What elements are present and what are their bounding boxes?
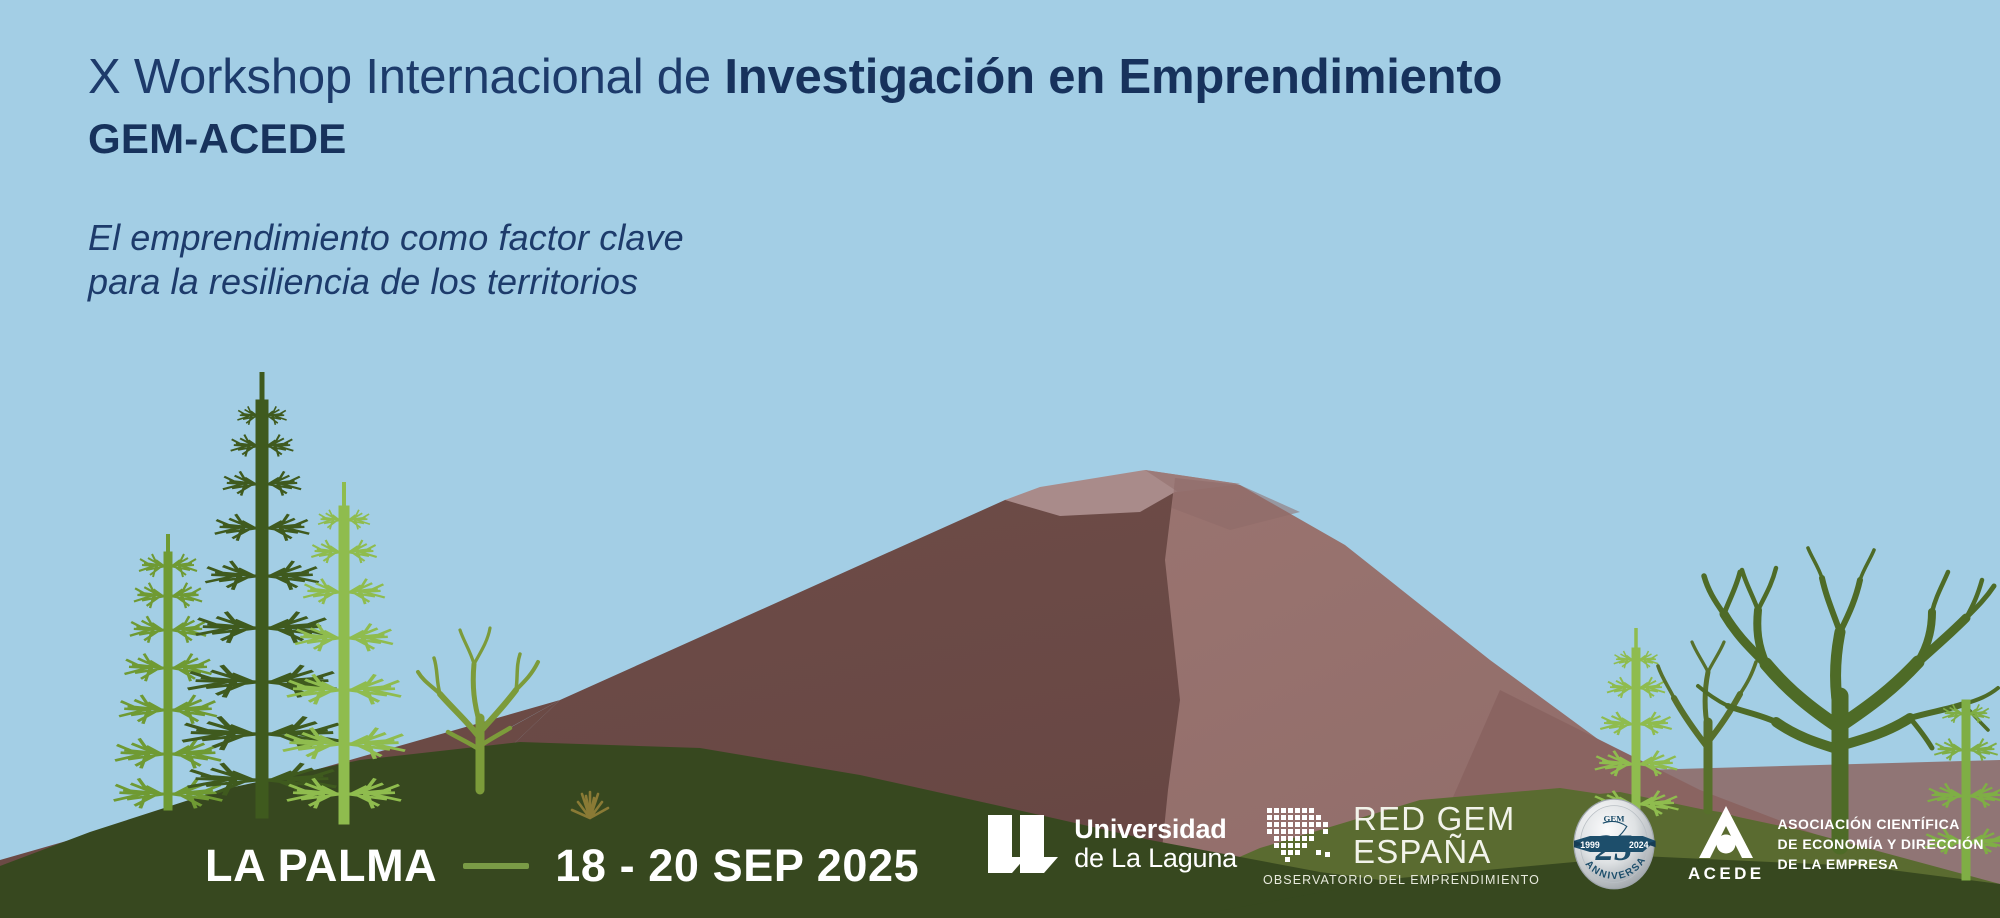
title-bold-part: Investigación en Emprendimiento <box>724 50 1502 104</box>
event-theme-line1: El emprendimiento como factor clave <box>88 216 1948 260</box>
acede-mark-group: ACEDE <box>1688 804 1765 884</box>
badge-year-to: 2024 <box>1629 840 1649 850</box>
logo-gem-25-anniversary[interactable]: GEM 25 1999 2024 ANNIVERSARY <box>1566 796 1662 892</box>
ull-line2: de La Laguna <box>1074 844 1237 873</box>
ull-mark-icon <box>986 813 1060 875</box>
logo-universidad-de-la-laguna[interactable]: Universidad de La Laguna <box>986 813 1237 875</box>
separator-dash <box>463 863 529 869</box>
logo-acede[interactable]: ACEDE ASOCIACIÓN CIENTÍFICA DE ECONOMÍA … <box>1688 804 1984 884</box>
conference-banner: X Workshop Internacional de Investigació… <box>0 0 2000 918</box>
acede-wordmark: ACEDE <box>1688 864 1765 884</box>
logo-red-gem-espana[interactable]: RED GEM ESPAÑA OBSERVATORIO DEL EMPRENDI… <box>1263 802 1540 887</box>
acede-tagline-line1: ASOCIACIÓN CIENTÍFICA <box>1778 814 1985 834</box>
acede-triangle-icon <box>1695 804 1757 862</box>
page-title: X Workshop Internacional de Investigació… <box>88 50 1948 106</box>
event-theme: El emprendimiento como factor clave para… <box>88 216 1948 304</box>
anniversary-badge-icon: GEM 25 1999 2024 ANNIVERSARY <box>1566 796 1662 892</box>
event-location: LA PALMA <box>205 840 437 892</box>
acede-tagline-line2: DE ECONOMÍA Y DIRECCIÓN <box>1778 834 1985 854</box>
red-gem-tagline: OBSERVATORIO DEL EMPRENDIMIENTO <box>1263 873 1540 887</box>
ull-line1: Universidad <box>1074 815 1237 844</box>
acede-tagline: ASOCIACIÓN CIENTÍFICA DE ECONOMÍA Y DIRE… <box>1778 814 1985 875</box>
place-date-group: LA PALMA 18 - 20 SEP 2025 <box>205 840 919 892</box>
event-dates: 18 - 20 SEP 2025 <box>555 840 919 892</box>
red-gem-wordmark: RED GEM ESPAÑA <box>1353 802 1515 868</box>
badge-year-from: 1999 <box>1580 840 1600 850</box>
title-subbrand: GEM-ACEDE <box>88 114 1948 164</box>
ull-wordmark: Universidad de La Laguna <box>1074 815 1237 873</box>
spain-pixel-map-icon <box>1263 804 1341 866</box>
red-gem-line2: ESPAÑA <box>1353 835 1515 868</box>
sponsor-logos: Universidad de La Laguna <box>986 796 1984 892</box>
acede-tagline-line3: DE LA EMPRESA <box>1778 854 1985 874</box>
event-theme-line2: para la resiliencia de los territorios <box>88 260 1948 304</box>
headline-block: X Workshop Internacional de Investigació… <box>88 50 1948 304</box>
title-regular-part: X Workshop Internacional de <box>88 50 724 104</box>
red-gem-line1: RED GEM <box>1353 802 1515 835</box>
